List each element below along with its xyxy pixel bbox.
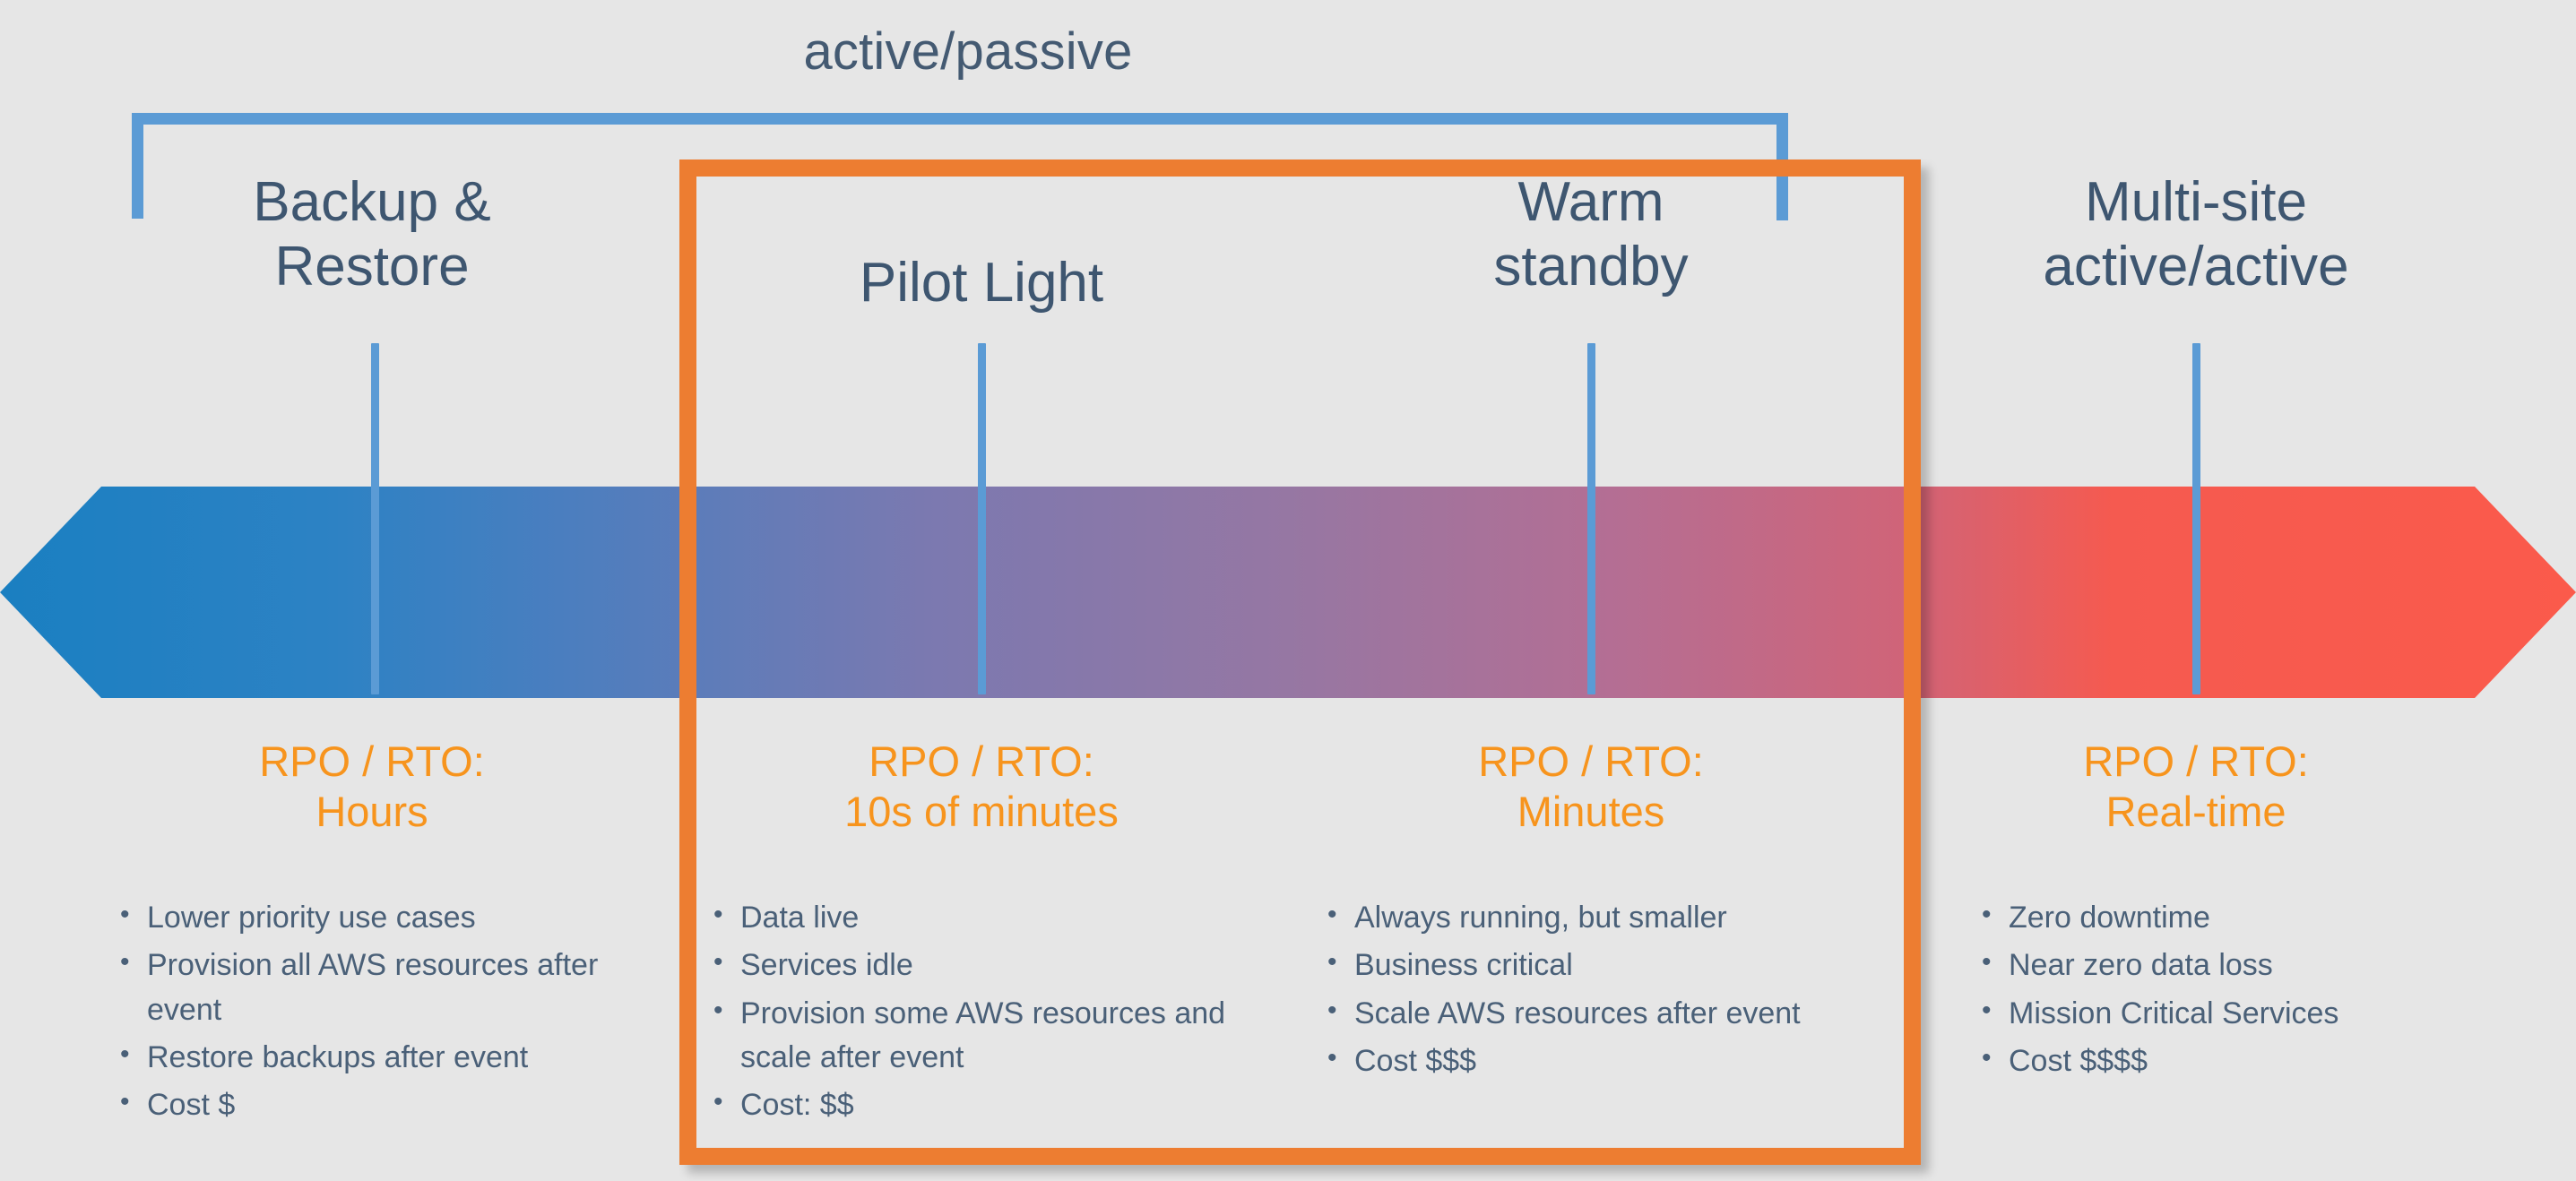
column-title-pilot-light: Pilot Light bbox=[735, 251, 1228, 315]
list-item: Mission Critical Services bbox=[1976, 992, 2550, 1036]
list-item: Near zero data loss bbox=[1976, 944, 2550, 987]
list-item: Services idle bbox=[708, 944, 1246, 987]
bracket-caption: active/passive bbox=[0, 22, 1936, 82]
list-item: Data live bbox=[708, 896, 1246, 940]
list-item: Provision all AWS resources after event bbox=[115, 944, 661, 1032]
list-item: Cost: $$ bbox=[708, 1083, 1246, 1127]
list-item: Cost $$$$ bbox=[1976, 1039, 2550, 1083]
list-item: Cost $$$ bbox=[1322, 1039, 1896, 1083]
connector-tick-4 bbox=[2192, 343, 2200, 694]
list-item: Always running, but smaller bbox=[1322, 896, 1896, 940]
bullet-list: Zero downtime Near zero data loss Missio… bbox=[1976, 896, 2550, 1083]
list-item: Lower priority use cases bbox=[115, 896, 661, 940]
rpo-rto-multi-site: RPO / RTO: Real-time bbox=[1949, 737, 2442, 838]
rpo-rto-backup-restore: RPO / RTO: Hours bbox=[125, 737, 618, 838]
list-item: Scale AWS resources after event bbox=[1322, 992, 1896, 1036]
rpo-rto-warm-standby: RPO / RTO: Minutes bbox=[1344, 737, 1837, 838]
bracket-top-line bbox=[132, 113, 1788, 125]
bullet-list: Data live Services idle Provision some A… bbox=[708, 896, 1246, 1127]
bullet-list: Lower priority use cases Provision all A… bbox=[115, 896, 661, 1127]
connector-tick-1 bbox=[371, 343, 379, 694]
bullet-list: Always running, but smaller Business cri… bbox=[1322, 896, 1896, 1083]
column-title-multi-site: Multi-site active/active bbox=[1949, 170, 2442, 299]
connector-tick-3 bbox=[1587, 343, 1595, 694]
list-item: Provision some AWS resources and scale a… bbox=[708, 992, 1246, 1081]
rpo-rto-pilot-light: RPO / RTO: 10s of minutes bbox=[735, 737, 1228, 838]
bullets-pilot-light: Data live Services idle Provision some A… bbox=[708, 896, 1246, 1131]
bullets-backup-restore: Lower priority use cases Provision all A… bbox=[115, 896, 661, 1131]
disaster-recovery-diagram: active/passive bbox=[0, 0, 2576, 1181]
column-title-warm-standby: Warm standby bbox=[1344, 170, 1837, 299]
bullets-warm-standby: Always running, but smaller Business cri… bbox=[1322, 896, 1896, 1087]
list-item: Zero downtime bbox=[1976, 896, 2550, 940]
column-title-backup-restore: Backup & Restore bbox=[125, 170, 618, 299]
spectrum-arrow bbox=[0, 485, 2576, 700]
list-item: Cost $ bbox=[115, 1083, 661, 1127]
list-item: Business critical bbox=[1322, 944, 1896, 987]
bullets-multi-site: Zero downtime Near zero data loss Missio… bbox=[1976, 896, 2550, 1087]
connector-tick-2 bbox=[978, 343, 986, 694]
list-item: Restore backups after event bbox=[115, 1036, 661, 1080]
